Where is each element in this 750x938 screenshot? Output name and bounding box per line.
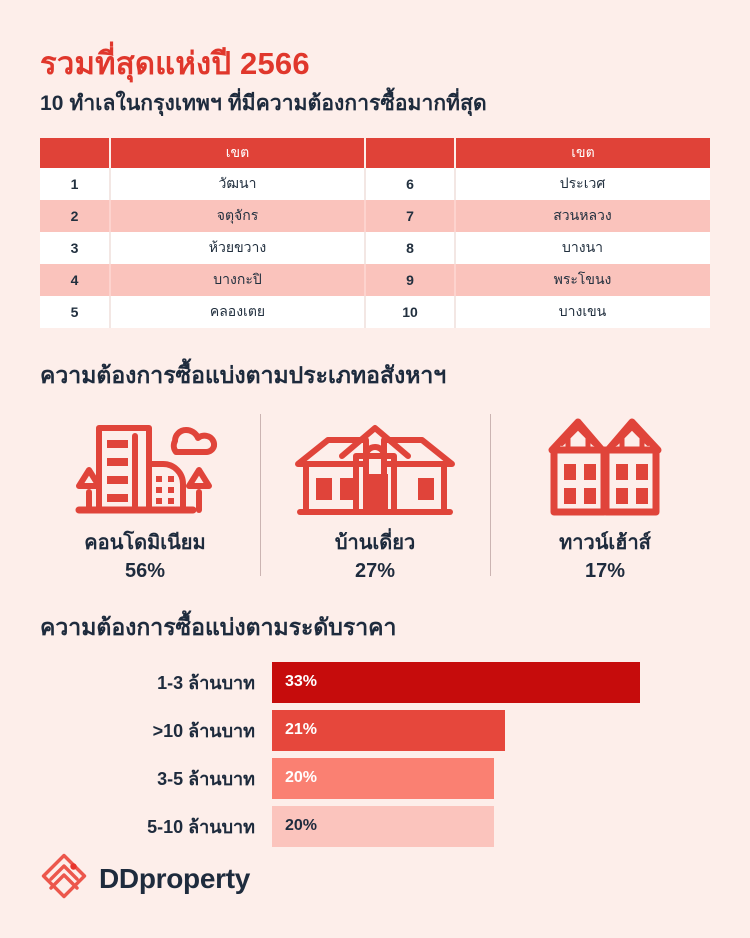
property-type-label: ทาวน์เฮ้าส์ [490, 531, 720, 556]
bar-value-label: 20% [285, 769, 317, 787]
page-title: รวมที่สุดแห่งปี 2566 [40, 46, 750, 82]
district-cell: ประเวศ [455, 168, 710, 200]
bar-category-label: 1-3 ล้านบาท [40, 668, 272, 697]
rank-cell: 10 [365, 296, 455, 328]
bar-row: 5-10 ล้านบาท 20% [40, 806, 750, 847]
table-header-district-right: เขต [455, 138, 710, 168]
townhouse-icon [490, 412, 720, 520]
page-subtitle: 10 ทำเลในกรุงเทพฯ ที่มีความต้องการซื้อมา… [40, 91, 750, 116]
bar-category-label: 5-10 ล้านบาท [40, 812, 272, 841]
district-cell: บางกะปิ [110, 264, 365, 296]
bar: 20% [272, 758, 494, 799]
table-header-row: เขต เขต [40, 138, 710, 168]
bar-category-label: 3-5 ล้านบาท [40, 764, 272, 793]
condominium-icon [30, 412, 260, 520]
property-type-label: บ้านเดี่ยว [260, 531, 490, 556]
table-row: 3 ห้วยขวาง 8 บางนา [40, 232, 710, 264]
property-type-row: คอนโดมิเนียม 56% [0, 408, 750, 583]
bar-category-label: >10 ล้านบาท [40, 716, 272, 745]
bar-row: >10 ล้านบาท 21% [40, 710, 750, 751]
rank-cell: 6 [365, 168, 455, 200]
ddproperty-logo: DDproperty [40, 852, 250, 905]
bar-value-label: 33% [285, 673, 317, 691]
header: รวมที่สุดแห่งปี 2566 10 ทำเลในกรุงเทพฯ ท… [0, 0, 750, 116]
ddproperty-logo-text: DDproperty [99, 863, 250, 895]
bar-value-label: 21% [285, 721, 317, 739]
bar-track: 33% [272, 662, 750, 703]
district-cell: พระโขนง [455, 264, 710, 296]
bar: 33% [272, 662, 640, 703]
bar: 21% [272, 710, 505, 751]
bar-track: 20% [272, 758, 750, 799]
ddproperty-logo-icon [40, 852, 88, 905]
bar-row: 3-5 ล้านบาท 20% [40, 758, 750, 799]
district-cell: คลองเตย [110, 296, 365, 328]
rank-cell: 3 [40, 232, 110, 264]
table-header-district-left: เขต [110, 138, 365, 168]
district-cell: บางนา [455, 232, 710, 264]
property-type-condominium: คอนโดมิเนียม 56% [30, 408, 260, 583]
table-row: 1 วัฒนา 6 ประเวศ [40, 168, 710, 200]
rank-cell: 7 [365, 200, 455, 232]
table-header-rank-right [365, 138, 455, 168]
property-type-heading: ความต้องการซื้อแบ่งตามประเภทอสังหาฯ [0, 328, 750, 394]
property-type-value: 17% [490, 559, 720, 583]
district-cell: วัฒนา [110, 168, 365, 200]
property-type-value: 56% [30, 559, 260, 583]
district-cell: ห้วยขวาง [110, 232, 365, 264]
price-level-bar-chart: 1-3 ล้านบาท 33% >10 ล้านบาท 21% 3-5 ล้าน… [0, 662, 750, 847]
rank-cell: 2 [40, 200, 110, 232]
rank-cell: 4 [40, 264, 110, 296]
table-row: 2 จตุจักร 7 สวนหลวง [40, 200, 710, 232]
property-type-value: 27% [260, 559, 490, 583]
table-row: 5 คลองเตย 10 บางเขน [40, 296, 710, 328]
bar-track: 21% [272, 710, 750, 751]
district-cell: จตุจักร [110, 200, 365, 232]
detached-house-icon [260, 412, 490, 520]
district-cell: สวนหลวง [455, 200, 710, 232]
bar: 20% [272, 806, 494, 847]
table-row: 4 บางกะปิ 9 พระโขนง [40, 264, 710, 296]
top-districts-table: เขต เขต 1 วัฒนา 6 ประเวศ 2 จตุจักร 7 สวน… [40, 138, 710, 328]
property-type-detached-house: บ้านเดี่ยว 27% [260, 408, 490, 583]
rank-cell: 1 [40, 168, 110, 200]
rank-cell: 8 [365, 232, 455, 264]
bar-value-label: 20% [285, 817, 317, 835]
rank-cell: 5 [40, 296, 110, 328]
property-type-label: คอนโดมิเนียม [30, 531, 260, 556]
price-level-heading: ความต้องการซื้อแบ่งตามระดับราคา [0, 583, 750, 646]
bar-row: 1-3 ล้านบาท 33% [40, 662, 750, 703]
property-type-townhouse: ทาวน์เฮ้าส์ 17% [490, 408, 720, 583]
rank-cell: 9 [365, 264, 455, 296]
district-cell: บางเขน [455, 296, 710, 328]
bar-track: 20% [272, 806, 750, 847]
table-header-rank-left [40, 138, 110, 168]
